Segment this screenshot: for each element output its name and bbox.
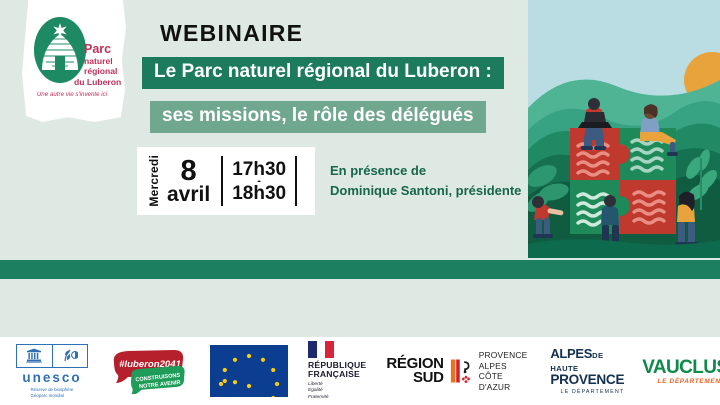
region-sud-prov2: ALPES bbox=[479, 361, 531, 372]
vaucluse-line2: LE DÉPARTEMENT bbox=[642, 378, 720, 385]
unesco-subtitle: Réserve de biosphère Géoparc mondial bbox=[31, 387, 74, 399]
puzzle-landscape-illustration bbox=[528, 0, 720, 258]
flag-blue bbox=[308, 341, 317, 358]
partner-logo-strip: unesco Réserve de biosphère Géoparc mond… bbox=[0, 337, 720, 405]
park-logo: Parc naturel régional du Luberon Une aut… bbox=[22, 0, 126, 122]
temple-glyph bbox=[26, 348, 42, 363]
rf-devise: Liberté Égalité Fraternité bbox=[308, 382, 366, 401]
presence-line2: Dominique Santoni, présidente bbox=[330, 181, 521, 201]
divider-right bbox=[295, 156, 297, 206]
weekday-label: Mercredi bbox=[148, 155, 160, 207]
time-block: 17h30 - 18h30 bbox=[232, 160, 286, 203]
park-tagline: Une autre vie s'invente ici bbox=[37, 91, 108, 98]
european-union-flag-logo bbox=[210, 345, 288, 397]
unesco-subtitle-line2: Géoparc mondial bbox=[31, 393, 74, 399]
alpes-de-haute-provence-logo: ALPESDE HAUTE PROVENCE LE DÉPARTEMENT bbox=[550, 347, 624, 394]
unesco-wordmark: unesco bbox=[22, 370, 81, 385]
region-sud-flag-icon bbox=[450, 356, 473, 386]
region-sud-logo: RÉGION SUD PROVENCE ALPES CÔTE D'AZUR bbox=[386, 350, 530, 392]
luberon2041-logo: #luberon2041 CONSTRUISONS NOTRE AVENIR bbox=[110, 348, 190, 394]
vaucluse-logo: VAUCLUSE LE DÉPARTEMENT bbox=[642, 358, 720, 385]
park-name-line1: Parc bbox=[84, 42, 111, 56]
rf-name-line2: FRANÇAISE bbox=[308, 370, 366, 379]
unesco-logo: unesco Réserve de biosphère Géoparc mond… bbox=[16, 344, 88, 399]
eu-stars bbox=[210, 345, 288, 397]
unesco-emblem bbox=[16, 344, 88, 368]
region-sud-prov1: PROVENCE bbox=[479, 350, 531, 361]
green-separator-band bbox=[0, 260, 720, 279]
presence-line1: En présence de bbox=[330, 161, 521, 181]
park-name-line4: du Luberon bbox=[74, 77, 121, 87]
region-sud-wordmark: RÉGION SUD bbox=[386, 357, 443, 386]
vaucluse-line1: VAUCLUSE bbox=[642, 358, 720, 377]
date-time-card: Mercredi 8 avril 17h30 - 18h30 bbox=[137, 147, 315, 215]
illustration-panel bbox=[528, 0, 720, 258]
page-title-kicker: WEBINAIRE bbox=[160, 20, 303, 47]
ahp-line3: LE DÉPARTEMENT bbox=[550, 389, 624, 395]
park-name-line3: régional bbox=[84, 66, 117, 76]
republique-francaise-logo: RÉPUBLIQUE FRANÇAISE Liberté Égalité Fra… bbox=[308, 341, 366, 401]
presence-block: En présence de Dominique Santoni, présid… bbox=[330, 161, 521, 201]
date-block: 8 avril bbox=[167, 157, 210, 206]
day-number: 8 bbox=[167, 157, 210, 185]
title-banner-line1: Le Parc naturel régional du Luberon : bbox=[142, 57, 504, 89]
luberon2041-bubbles: #luberon2041 CONSTRUISONS NOTRE AVENIR bbox=[110, 348, 190, 394]
park-name-line2: naturel bbox=[84, 56, 113, 66]
region-sud-line2: SUD bbox=[386, 371, 443, 385]
unesco-subtitle-line1: Réserve de biosphère bbox=[31, 387, 74, 393]
flag-red bbox=[325, 341, 334, 358]
month-name: avril bbox=[167, 185, 210, 206]
region-sud-prov3: CÔTE D'AZUR bbox=[479, 371, 531, 392]
divider-left bbox=[221, 156, 223, 206]
biosphere-glyph bbox=[62, 348, 78, 363]
time-end: 18h30 bbox=[232, 184, 286, 203]
region-sud-region-name: PROVENCE ALPES CÔTE D'AZUR bbox=[479, 350, 531, 392]
unesco-temple-icon bbox=[17, 345, 52, 367]
french-flag-icon bbox=[308, 341, 334, 358]
webinar-poster: Parc naturel régional du Luberon Une aut… bbox=[0, 0, 720, 405]
ahp-line1-wrap: ALPESDE HAUTE bbox=[550, 347, 624, 373]
park-logo-mark: Parc naturel régional du Luberon Une aut… bbox=[22, 0, 126, 122]
ahp-line2: PROVENCE bbox=[550, 373, 624, 387]
flag-white bbox=[317, 341, 326, 358]
ahp-line1: ALPES bbox=[550, 346, 592, 361]
rf-devise-line3: Fraternité bbox=[308, 395, 366, 401]
unesco-biosphere-icon bbox=[52, 345, 88, 367]
title-banner-line2: ses missions, le rôle des délégués bbox=[150, 101, 486, 133]
